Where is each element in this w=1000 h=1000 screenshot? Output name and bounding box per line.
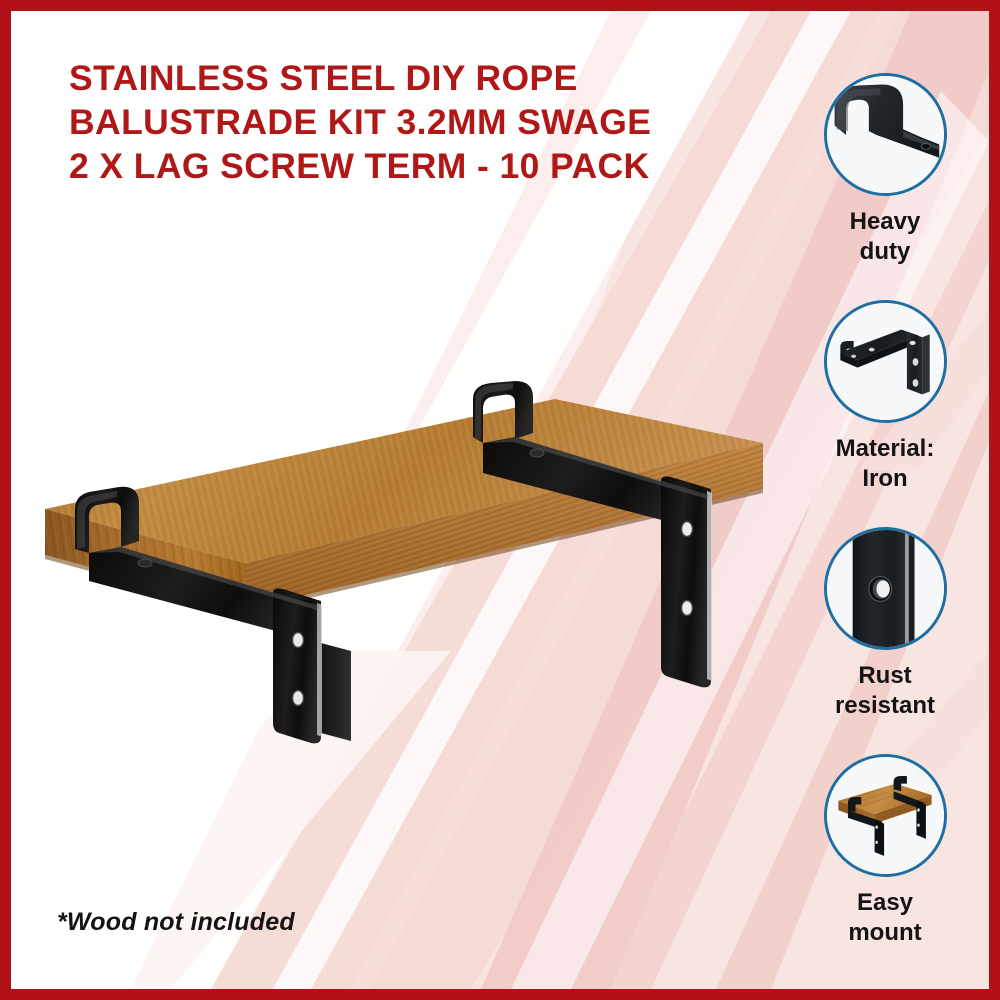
screw-hole-closeup-icon xyxy=(824,527,947,650)
feature-badge: Material: Iron xyxy=(789,300,981,527)
l-bracket-icon xyxy=(824,300,947,423)
page-title: STAINLESS STEEL DIY ROPE BALUSTRADE KIT … xyxy=(69,56,709,188)
feature-badge: Easy mount xyxy=(789,754,981,981)
feature-label: Rust resistant xyxy=(795,661,975,721)
poster-inner-panel: STAINLESS STEEL DIY ROPE BALUSTRADE KIT … xyxy=(11,11,989,989)
feature-badge: Heavy duty xyxy=(789,73,981,300)
feature-label: Material: Iron xyxy=(795,434,975,494)
wood-not-included-note: *Wood not included xyxy=(57,908,295,937)
mounted-shelf-icon xyxy=(824,754,947,877)
title-line-2: BALUSTRADE KIT 3.2MM SWAGE xyxy=(69,100,709,144)
feature-badge-list: Heavy duty xyxy=(789,73,981,983)
feature-badge: Rust resistant xyxy=(789,527,981,754)
feature-label: Heavy duty xyxy=(795,207,975,267)
feature-label: Easy mount xyxy=(795,888,975,948)
product-poster: STAINLESS STEEL DIY ROPE BALUSTRADE KIT … xyxy=(0,0,1000,1000)
bracket-closeup-icon xyxy=(824,73,947,196)
title-line-3: 2 X LAG SCREW TERM - 10 PACK xyxy=(69,144,709,188)
title-line-1: STAINLESS STEEL DIY ROPE xyxy=(69,56,709,100)
hero-product-image xyxy=(21,381,811,781)
